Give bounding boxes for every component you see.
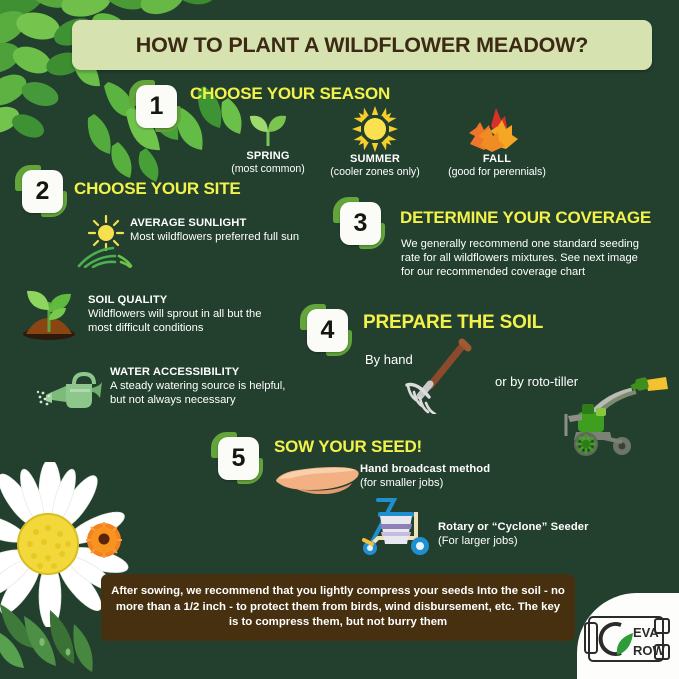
badge-square: 1 — [136, 85, 177, 128]
footer-note: After sowing, we recommend that you ligh… — [101, 574, 575, 641]
step-number: 4 — [321, 318, 335, 343]
step-3-body: We generally recommend one standard seed… — [401, 237, 651, 279]
step-badge-5: 5 — [211, 432, 263, 484]
season-name: SPRING — [222, 150, 314, 163]
roto-tiller-icon — [548, 368, 674, 460]
sow-method-note: (For larger jobs) — [438, 535, 518, 547]
site-item-soil: SOIL QUALITY Wildflowers will sprout in … — [88, 293, 268, 335]
season-note: (good for perennials) — [438, 166, 556, 179]
sow-method-hand: Hand broadcast method (for smaller jobs) — [360, 462, 530, 490]
site-item-water: WATER ACCESSIBILITY A steady watering so… — [110, 365, 300, 407]
step-badge-1: 1 — [129, 80, 181, 132]
footer-note-text: After sowing, we recommend that you ligh… — [101, 584, 575, 630]
sow-method-title: Rotary or “Cyclone” Seeder — [438, 521, 589, 533]
season-caption-summer: SUMMER (cooler zones only) — [318, 153, 432, 179]
open-hand-icon — [274, 462, 360, 494]
step-1-heading: CHOOSE YOUR SEASON — [190, 84, 390, 104]
seedling-icon — [246, 108, 290, 148]
season-name: FALL — [438, 153, 556, 166]
step-badge-4: 4 — [300, 304, 352, 356]
rotary-seeder-icon — [350, 494, 450, 558]
site-item-title: AVERAGE SUNLIGHT — [130, 217, 246, 229]
site-item-body: A steady watering source is helpful, but… — [110, 380, 285, 406]
geva-grow-leaf-logo: EVA ROW — [583, 611, 675, 667]
sow-method-rotary: Rotary or “Cyclone” Seeder (For larger j… — [438, 520, 638, 548]
sun-icon — [352, 106, 398, 152]
step-number: 3 — [354, 211, 368, 236]
page-title-text: HOW TO PLANT A WILDFLOWER MEADOW? — [136, 33, 588, 58]
step-number: 5 — [232, 446, 246, 471]
step-number: 2 — [36, 179, 50, 204]
logo-text-line1: EVA — [633, 625, 659, 640]
sow-method-title: Hand broadcast method — [360, 463, 490, 475]
badge-square: 3 — [340, 202, 381, 245]
infographic-canvas: HOW TO PLANT A WILDFLOWER MEADOW? 1 CHOO… — [0, 0, 679, 679]
step-4-heading: PREPARE THE SOIL — [363, 312, 543, 334]
badge-square: 4 — [307, 309, 348, 352]
step-badge-2: 2 — [15, 165, 67, 217]
badge-square: 5 — [218, 437, 259, 480]
step-3-heading: DETERMINE YOUR COVERAGE — [400, 208, 651, 228]
season-note: (cooler zones only) — [318, 166, 432, 179]
season-name: SUMMER — [318, 153, 432, 166]
page-title: HOW TO PLANT A WILDFLOWER MEADOW? — [72, 20, 652, 70]
sun-over-field-icon — [75, 214, 137, 268]
season-note: (most common) — [222, 163, 314, 176]
maple-leaf-icon — [466, 106, 518, 152]
site-item-body: Most wildflowers preferred full sun — [130, 231, 299, 243]
watering-can-icon — [36, 368, 102, 412]
season-caption-fall: FALL (good for perennials) — [438, 153, 556, 179]
step-5-heading: SOW YOUR SEED! — [274, 437, 422, 457]
rake-icon — [400, 338, 476, 414]
sprout-in-soil-icon — [18, 282, 80, 340]
season-caption-spring: SPRING (most common) — [222, 150, 314, 176]
site-item-title: SOIL QUALITY — [88, 294, 167, 306]
step-2-heading: CHOOSE YOUR SITE — [74, 179, 241, 199]
step-badge-3: 3 — [333, 197, 385, 249]
badge-square: 2 — [22, 170, 63, 213]
site-item-sunlight: AVERAGE SUNLIGHT Most wildflowers prefer… — [130, 216, 310, 244]
sow-method-note: (for smaller jobs) — [360, 477, 443, 489]
site-item-title: WATER ACCESSIBILITY — [110, 366, 239, 378]
orange-marigold-flower — [84, 520, 124, 560]
site-item-body: Wildflowers will sprout in all but the m… — [88, 308, 261, 334]
step-number: 1 — [150, 94, 164, 119]
logo-text-line2: ROW — [633, 643, 666, 658]
